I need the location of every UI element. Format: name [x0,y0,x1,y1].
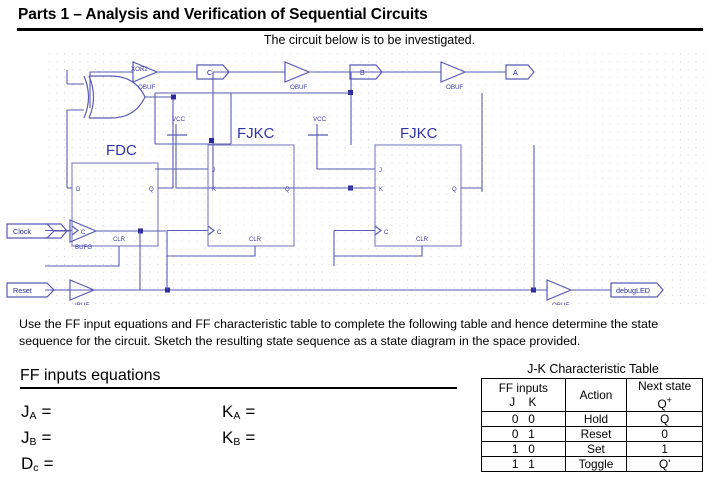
equation-jb-text: = [37,428,52,447]
jk-table-body: 0 0 Hold Q 0 1 Reset 0 1 0 Set 1 1 1 Tog… [482,411,703,471]
equation-jb-name: J [21,428,30,447]
header-next-state-line2: Q+ [627,393,702,411]
equation-ka-name: K [222,402,233,421]
jk-table-title: J-K Characteristic Table [478,362,708,376]
cell-action-0: Hold [565,411,627,426]
figure-caption: The circuit below is to be investigated. [0,33,719,47]
table-row: 1 1 Toggle Q' [482,456,703,471]
equation-dc-text: = [39,454,54,473]
equation-ja-sub: A [30,410,37,422]
equation-ka: KA = [222,402,255,422]
cell-next-2: 1 [627,441,703,456]
equation-kb-name: K [222,428,233,447]
equation-kb-sub: B [233,436,240,448]
cell-next-1: 0 [627,426,703,441]
cell-jk-1: 0 1 [482,426,566,441]
cell-j-1: 0 [512,427,519,441]
ff-equations-heading: FF inputs equations [20,367,161,385]
header-next-state-line1: Next state [627,379,702,393]
cell-action-2: Set [565,441,627,456]
equation-dc-name: D [21,454,33,473]
header-ff-inputs-line1: FF inputs [482,381,565,395]
cell-k-0: 0 [528,412,535,426]
table-header-row: FF inputs J K Action Next state Q+ [482,379,703,412]
page-title: Parts 1 – Analysis and Verification of S… [18,6,428,24]
buffer-label-ibuf: IBUF [75,302,89,305]
cell-j-2: 1 [512,442,519,456]
table-row: 0 1 Reset 0 [482,426,703,441]
cell-j-0: 0 [512,412,519,426]
cell-next-0: Q [627,411,703,426]
equation-kb: KB = [222,428,255,448]
header-ff-inputs-line2: J K [482,395,565,409]
title-divider [17,28,703,31]
circuit-schematic: .w { stroke:#5a5ab4; stroke-width:1.1; f… [45,50,709,305]
page-root: Parts 1 – Analysis and Verification of S… [0,0,719,490]
cell-next-3: Q' [627,456,703,471]
equation-dc-sub: c [33,462,39,474]
cell-jk-0: 0 0 [482,411,566,426]
buffer-label-bufg: BUFG [75,244,92,251]
equation-jb-sub: B [30,436,37,448]
cell-jk-2: 1 0 [482,441,566,456]
equation-ja: JA = [21,402,51,422]
cell-jk-3: 1 1 [482,456,566,471]
equation-ka-text: = [241,402,256,421]
header-action: Action [565,379,627,412]
input-pin-reset: Reset [13,286,32,295]
schematic-inputs-svg: .w2 { stroke:#5a5ab4; stroke-width:1.1; … [0,50,664,305]
header-next-state: Next state Q+ [627,379,703,412]
table-row: 1 0 Set 1 [482,441,703,456]
equation-ja-name: J [21,402,30,421]
header-ff-inputs: FF inputs J K [482,379,566,412]
cell-k-2: 0 [528,442,535,456]
cell-k-1: 1 [528,427,535,441]
equation-kb-text: = [241,428,256,447]
cell-k-3: 1 [528,457,535,471]
equation-ka-sub: A [233,410,240,422]
cell-action-3: Toggle [565,456,627,471]
table-row: 0 0 Hold Q [482,411,703,426]
cell-j-3: 1 [512,457,519,471]
cell-action-1: Reset [565,426,627,441]
equation-dc: Dc = [21,454,54,474]
input-pin-clock: Clock [13,227,31,236]
ff-equations-divider [20,387,457,389]
jk-characteristic-table: FF inputs J K Action Next state Q+ 0 0 H… [481,378,703,472]
equation-jb: JB = [21,428,51,448]
header-next-state-plus: + [667,395,672,405]
header-next-state-q: Q [657,397,666,411]
instructions-paragraph: Use the FF input equations and FF charac… [19,316,703,349]
equation-ja-text: = [37,402,52,421]
